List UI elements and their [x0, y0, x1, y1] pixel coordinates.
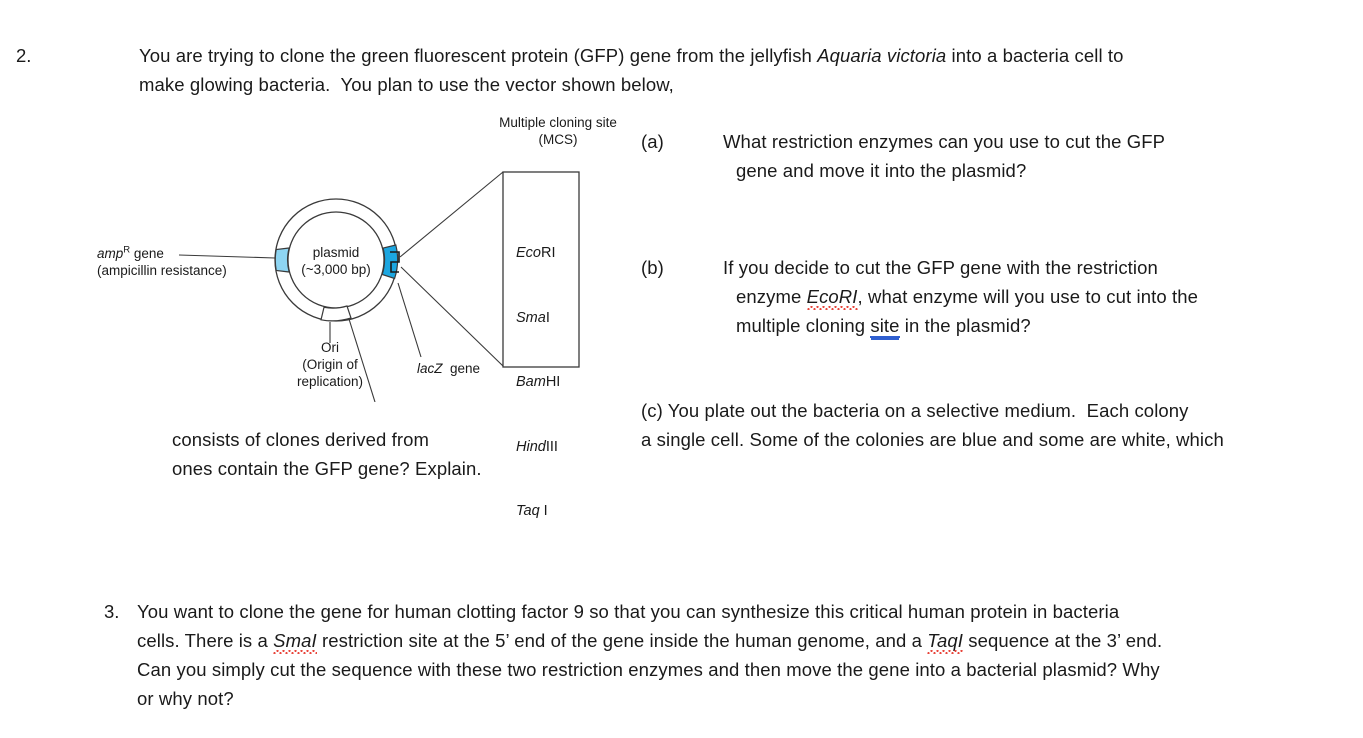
mcs-enzyme-4-rest: I [540, 503, 548, 519]
part-b-line-2: enzyme EcoRI, what enzyme will you use t… [736, 282, 1198, 311]
origin-of-replication-segment [321, 306, 351, 321]
mcs-enzyme-list: EcoRI SmaI BamHI HindIII Taq I [516, 200, 560, 566]
expansion-line-bottom [401, 267, 503, 366]
enzyme-smai-misspelled: SmaI [273, 630, 317, 651]
enzyme-taqi-misspelled: TaqI [927, 630, 963, 651]
part-c-continuation-line-1: consists of clones derived from [172, 425, 429, 454]
mcs-enzyme-2-rest: HI [546, 374, 561, 390]
part-b-line-2-prefix: enzyme [736, 286, 807, 307]
amp-gene-italic: amp [97, 246, 123, 261]
question-3-line-3: Can you simply cut the sequence with the… [137, 655, 1160, 684]
mcs-enzyme-3-italic: Hind [516, 439, 546, 455]
part-b-line-3-prefix: multiple cloning [736, 315, 870, 336]
mcs-enzyme-item-4: Taq I [516, 501, 560, 523]
question-2-stem-line-1: You are trying to clone the green fluore… [139, 41, 1124, 70]
plasmid-center-label-line-1: plasmid [286, 244, 386, 261]
ori-label-line-1: Ori [273, 339, 387, 356]
question-3-line-2: cells. There is a SmaI restriction site … [137, 626, 1162, 655]
part-b-line-3: multiple cloning site in the plasmid? [736, 311, 1031, 340]
ori-label-line-3: replication) [273, 373, 387, 390]
mcs-enzyme-item-2: BamHI [516, 372, 560, 394]
plasmid-center-label-line-2: (~3,000 bp) [286, 261, 386, 278]
mcs-enzyme-3-rest: III [546, 439, 558, 455]
part-c-line-2: a single cell. Some of the colonies are … [641, 425, 1224, 454]
amp-gene-label-line-1: ampR gene [97, 245, 164, 262]
mcs-enzyme-1-rest: I [546, 310, 550, 326]
mcs-enzyme-2-italic: Bam [516, 374, 546, 390]
mcs-title-line-2: (MCS) [468, 131, 648, 148]
mcs-enzyme-0-italic: Eco [516, 245, 541, 261]
question-2-stem-line-2: make glowing bacteria. You plan to use t… [139, 70, 674, 99]
question-2-number: 2. [16, 41, 31, 70]
amp-gene-label-line-2: (ampicillin resistance) [97, 262, 227, 279]
expansion-line-top [400, 172, 503, 257]
lacz-gene-label: lacZ gene [417, 360, 480, 377]
amp-gene-rest: gene [130, 246, 164, 261]
part-c-line-1: (c) You plate out the bacteria on a sele… [641, 396, 1189, 425]
species-name-italic: Aquaria victoria [817, 45, 946, 66]
part-b-line-1: If you decide to cut the GFP gene with t… [723, 253, 1158, 282]
mcs-enzyme-4-italic: Taq [516, 503, 540, 519]
enzyme-ecori-misspelled: EcoRI [807, 286, 858, 307]
q3-line2-part-a: cells. There is a [137, 630, 273, 651]
q2-stem-part-a: You are trying to clone the green fluore… [139, 45, 817, 66]
document-page: 2. You are trying to clone the green flu… [0, 0, 1363, 738]
mcs-title-line-1: Multiple cloning site [468, 114, 648, 131]
lacz-italic: lacZ [417, 361, 443, 376]
q3-line2-part-c: sequence at the 3’ end. [963, 630, 1162, 651]
mcs-enzyme-1-italic: Sma [516, 310, 546, 326]
part-b-marker: (b) [641, 253, 664, 282]
part-b-line-3-suffix: in the plasmid? [900, 315, 1031, 336]
part-a-line-1: What restriction enzymes can you use to … [723, 127, 1165, 156]
ori-label-line-2: (Origin of [273, 356, 387, 373]
lacz-rest: gene [443, 361, 481, 376]
question-3-number: 3. [104, 597, 119, 626]
grammar-flag-site: site [870, 315, 899, 338]
part-c-continuation-line-2: ones contain the GFP gene? Explain. [172, 454, 482, 483]
q2-stem-part-b: into a bacteria cell to [946, 45, 1123, 66]
part-a-line-2: gene and move it into the plasmid? [736, 156, 1026, 185]
question-3-line-1: You want to clone the gene for human clo… [137, 597, 1119, 626]
leader-line-amp [179, 255, 275, 258]
part-b-line-2-suffix: , what enzyme will you use to cut into t… [858, 286, 1198, 307]
leader-line-lacz [398, 283, 421, 357]
mcs-enzyme-item-1: SmaI [516, 308, 560, 330]
mcs-enzyme-item-3: HindIII [516, 437, 560, 459]
question-3-line-4: or why not? [137, 684, 234, 713]
plasmid-vector-figure: Multiple cloning site (MCS) plasmid (~3,… [85, 112, 605, 402]
q3-line2-part-b: restriction site at the 5’ end of the ge… [317, 630, 928, 651]
mcs-enzyme-0-rest: RI [541, 245, 556, 261]
mcs-enzyme-item-0: EcoRI [516, 243, 560, 265]
